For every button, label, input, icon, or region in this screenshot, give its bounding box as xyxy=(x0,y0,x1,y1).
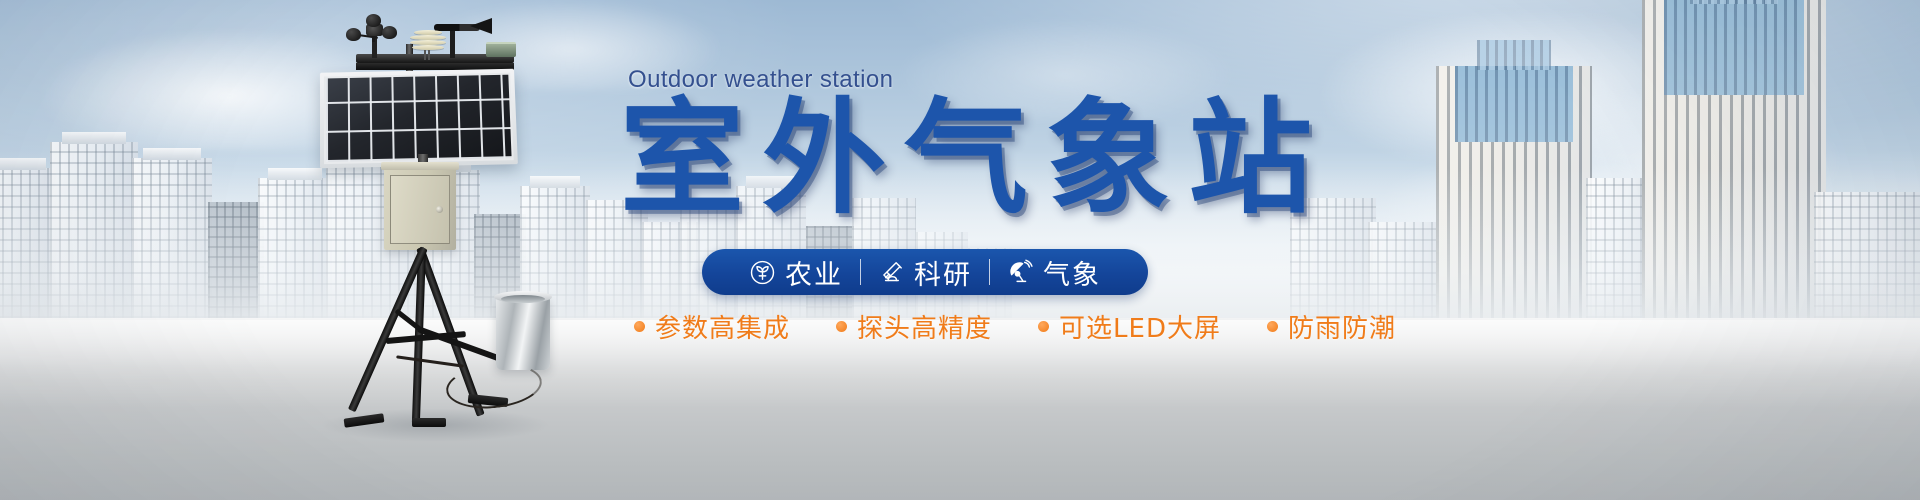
satellite-dish-icon xyxy=(1007,259,1034,286)
plant-sprout-icon xyxy=(749,259,776,286)
dot-bullet-icon xyxy=(836,321,847,332)
feature-item: 可选LED大屏 xyxy=(1038,308,1267,345)
banner-content: Outdoor weather station 室外气象站 农业 xyxy=(620,0,1800,500)
microscope-icon xyxy=(878,259,905,286)
feature-label: 参数高集成 xyxy=(655,308,790,345)
cable-segment-icon xyxy=(396,355,464,367)
control-enclosure-icon xyxy=(384,166,456,250)
feature-list: 参数高集成 探头高精度 可选LED大屏 防雨防潮 xyxy=(634,308,1442,345)
badge-item-label: 农业 xyxy=(785,253,843,292)
dot-bullet-icon xyxy=(1038,321,1049,332)
rain-gauge-icon xyxy=(496,296,550,370)
dot-bullet-icon xyxy=(634,321,645,332)
weather-station-product xyxy=(300,8,550,428)
feature-item: 参数高集成 xyxy=(634,308,836,345)
badge-item-label: 科研 xyxy=(914,253,972,292)
feature-label: 探头高精度 xyxy=(857,308,992,345)
dot-bullet-icon xyxy=(1267,321,1278,332)
sensor-module-icon xyxy=(486,42,516,57)
feature-item: 防雨防潮 xyxy=(1267,308,1442,345)
page-title: 室外气象站 xyxy=(620,96,1330,222)
radiation-shield-icon xyxy=(410,30,446,56)
badge-item-research[interactable]: 科研 xyxy=(861,253,989,292)
feature-label: 可选LED大屏 xyxy=(1059,308,1221,345)
badge-item-agriculture[interactable]: 农业 xyxy=(732,253,860,292)
feature-item: 探头高精度 xyxy=(836,308,1038,345)
application-badge: 农业 科研 xyxy=(702,249,1148,295)
feature-label: 防雨防潮 xyxy=(1288,308,1396,345)
hero-banner: Outdoor weather station 室外气象站 农业 xyxy=(0,0,1920,500)
badge-item-meteorology[interactable]: 气象 xyxy=(990,253,1118,292)
badge-item-label: 气象 xyxy=(1043,253,1101,292)
